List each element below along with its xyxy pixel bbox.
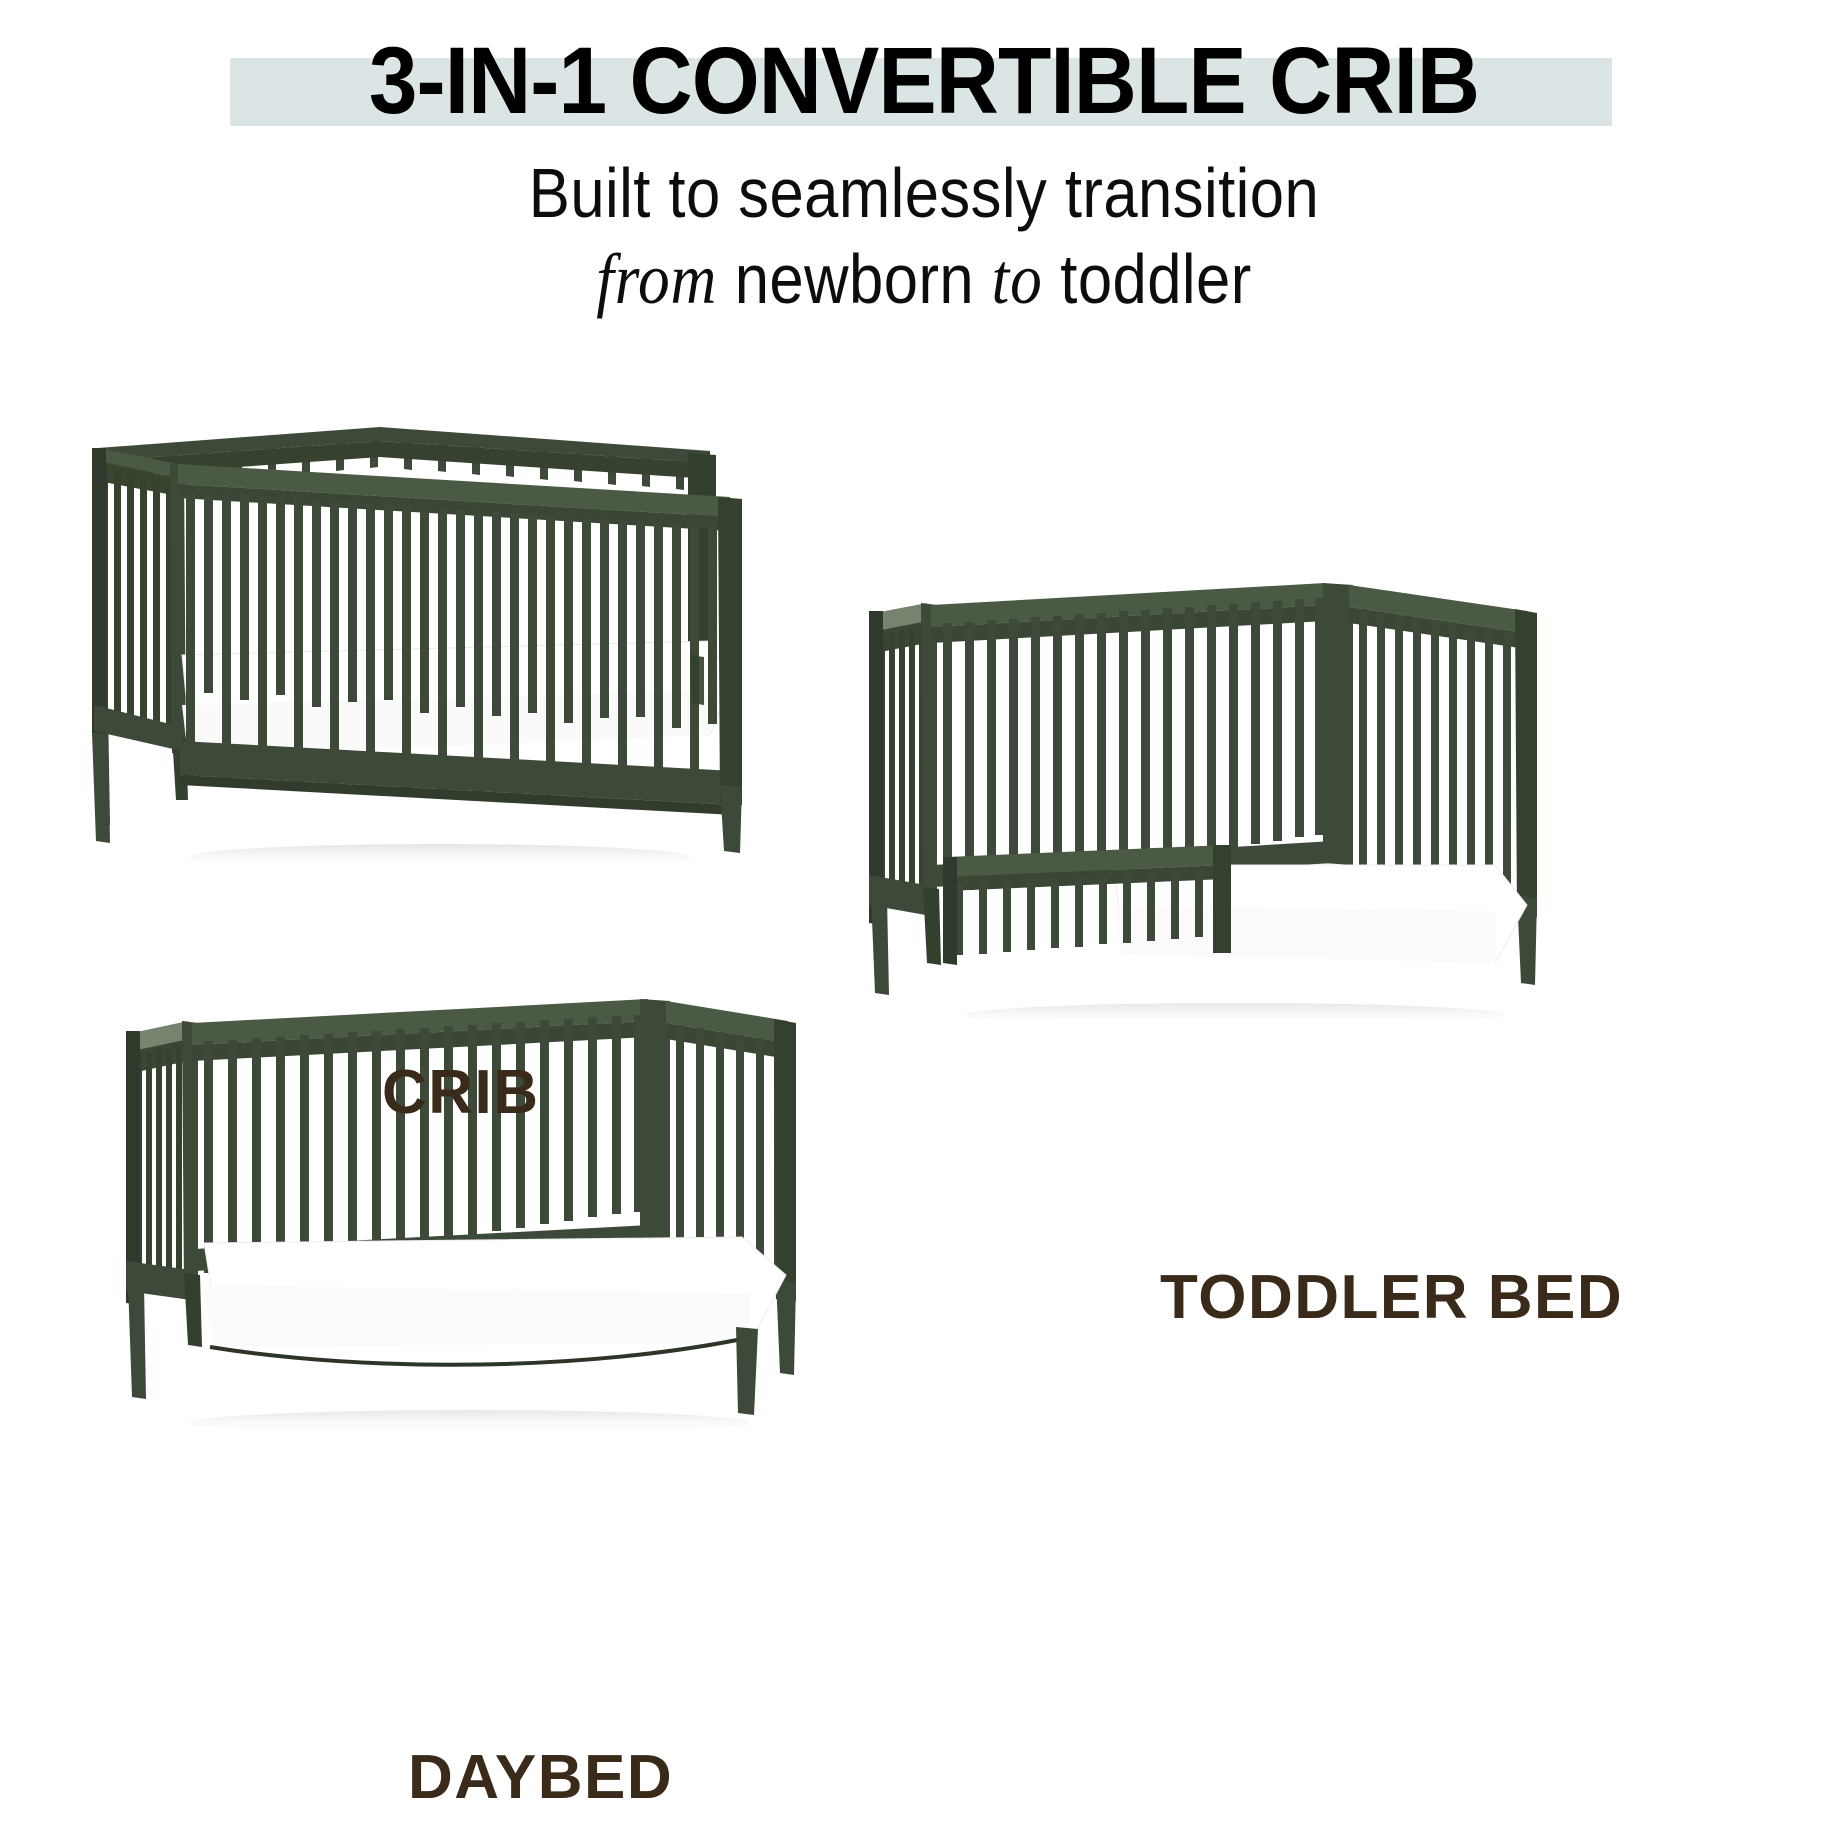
toddler-headboard-side-slats	[879, 627, 925, 905]
daybed-leg-rear-right	[776, 1279, 796, 1375]
crib-leg-rear-right	[690, 655, 704, 705]
crib-leg-front-left-lower	[92, 733, 110, 843]
label-crib: CRIB	[382, 1057, 540, 1128]
toddler-bed-shadow	[965, 1003, 1505, 1027]
label-toddler-bed: TODDLER BED	[1160, 1262, 1623, 1333]
page-title-wrap: 3-IN-1 CONVERTIBLE CRIB	[0, 34, 1848, 129]
page-title: 3-IN-1 CONVERTIBLE CRIB	[74, 34, 1774, 129]
label-daybed: DAYBED	[408, 1742, 673, 1813]
toddler-leg-front-left	[871, 895, 889, 995]
crib-leg-front-right	[720, 785, 742, 853]
subtitle-plain-toddler: toddler	[1043, 240, 1252, 318]
subtitle-plain-newborn: newborn	[717, 240, 991, 318]
daybed-leg-front-left	[128, 1283, 146, 1399]
subtitle-script-to: to	[992, 239, 1043, 319]
subtitle-line-1: Built to seamlessly transition	[111, 150, 1737, 236]
crib-shadow	[190, 844, 690, 870]
daybed-mattress-side	[204, 1285, 750, 1347]
daybed-leg-front-right	[736, 1327, 758, 1415]
crib-front-left-post	[92, 448, 106, 735]
toddler-corner-post-right	[1323, 583, 1353, 865]
subtitle: Built to seamlessly transition from newb…	[0, 150, 1848, 322]
toddler-mattress-side	[1113, 905, 1495, 963]
toddler-guardrail-right-post	[1213, 845, 1231, 953]
infographic-canvas: 3-IN-1 CONVERTIBLE CRIB Built to seamles…	[0, 0, 1848, 1848]
toddler-leg-rear-left	[923, 887, 941, 965]
subtitle-script-from: from	[596, 239, 717, 319]
toddler-right-panel-slats	[1359, 609, 1511, 886]
crib-left-side-slats	[101, 467, 173, 730]
daybed-left-side-slats	[136, 1047, 182, 1285]
daybed-leg-rear-left	[184, 1273, 202, 1347]
daybed-right-panel-slats	[676, 1025, 782, 1271]
toddler-guardrail-left-post	[943, 857, 957, 965]
daybed-right-far-post	[774, 1019, 796, 1301]
crib-front-right-post	[718, 497, 742, 805]
daybed-shadow	[190, 1410, 750, 1436]
daybed-product-image	[110, 975, 850, 1445]
toddler-right-far-post	[1515, 609, 1537, 917]
daybed-corner-post-right	[640, 999, 670, 1247]
crib-product-image	[70, 405, 770, 875]
toddler-bed-product-image	[855, 565, 1595, 1035]
subtitle-line-2: from newborn to toddler	[111, 236, 1737, 322]
